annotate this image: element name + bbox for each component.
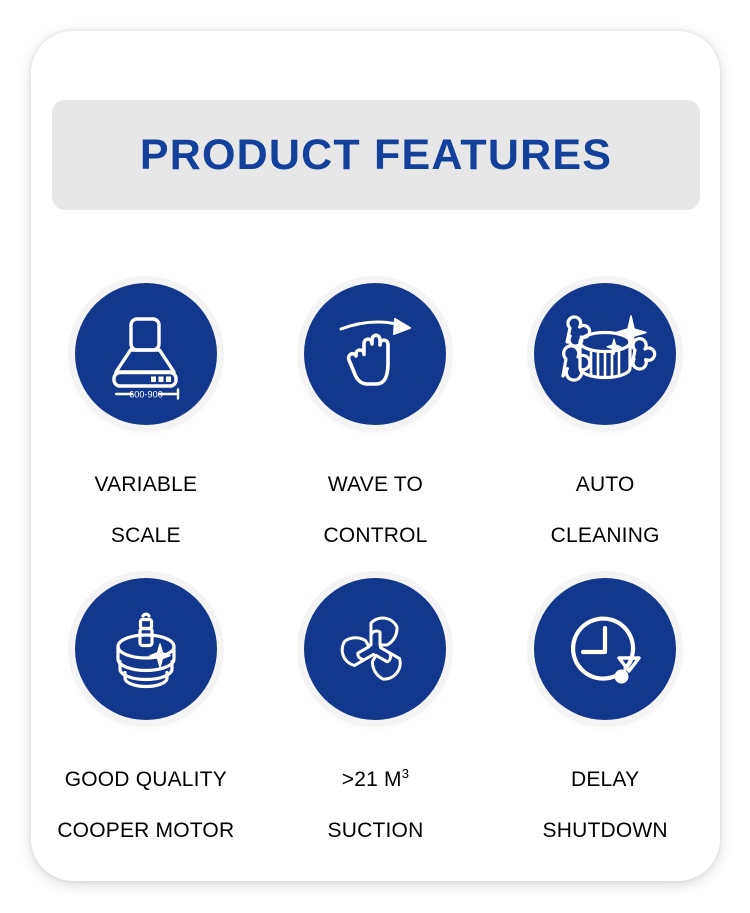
feature-label-line2: COOPER MOTOR [57,819,234,842]
feature-label-line2: CONTROL [323,524,427,547]
feature-item-auto-cleaning: AUTO CLEANING [490,283,720,548]
page-title: PRODUCT FEATURES [140,134,612,177]
feature-label-cooper-motor: GOOD QUALITY COOPER MOTOR [57,741,234,843]
feature-item-delay-shutdown: DELAY SHUTDOWN [490,578,720,843]
screenshot-root: PRODUCT FEATURES [0,0,750,913]
feature-label-line1: WAVE TO [328,473,423,496]
feature-item-suction: >21 M3 SUCTION [261,578,491,843]
product-features-header-band: PRODUCT FEATURES [52,100,700,210]
feature-label-line1: VARIABLE [94,473,197,496]
feature-item-cooper-motor: GOOD QUALITY COOPER MOTOR [31,578,261,843]
range-hood-icon: 600-900 [75,283,217,425]
hand-wave-gesture-icon [304,283,446,425]
feature-label-variable-scale: VARIABLE SCALE [94,446,197,548]
feature-label-line1: DELAY [571,768,639,791]
feature-label-wave-to-control: WAVE TO CONTROL [323,446,427,548]
feature-label-superscript: 3 [402,766,409,781]
clock-delay-icon [534,578,676,720]
feature-label-line1: AUTO [576,473,635,496]
fan-blades-icon [304,578,446,720]
feature-label-line2: SHUTDOWN [543,819,668,842]
feature-label-line2: CLEANING [551,524,660,547]
feature-label-line1: GOOD QUALITY [65,768,227,791]
feature-label-line2: SCALE [111,524,181,547]
feature-label-suction: >21 M3 SUCTION [328,741,424,843]
feature-label-line2: SUCTION [328,819,424,842]
copper-motor-icon [75,578,217,720]
range-hood-dimension-text: 600-900 [129,389,163,399]
feature-label-line1: >21 M [342,768,402,791]
feature-label-delay-shutdown: DELAY SHUTDOWN [543,741,668,843]
product-features-card: PRODUCT FEATURES [31,31,720,881]
features-grid: 600-900 VARIABLE SCALE [31,283,720,844]
filter-bubbles-sparkle-icon [534,283,676,425]
feature-item-variable-scale: 600-900 VARIABLE SCALE [31,283,261,548]
feature-label-auto-cleaning: AUTO CLEANING [551,446,660,548]
feature-item-wave-to-control: WAVE TO CONTROL [261,283,491,548]
